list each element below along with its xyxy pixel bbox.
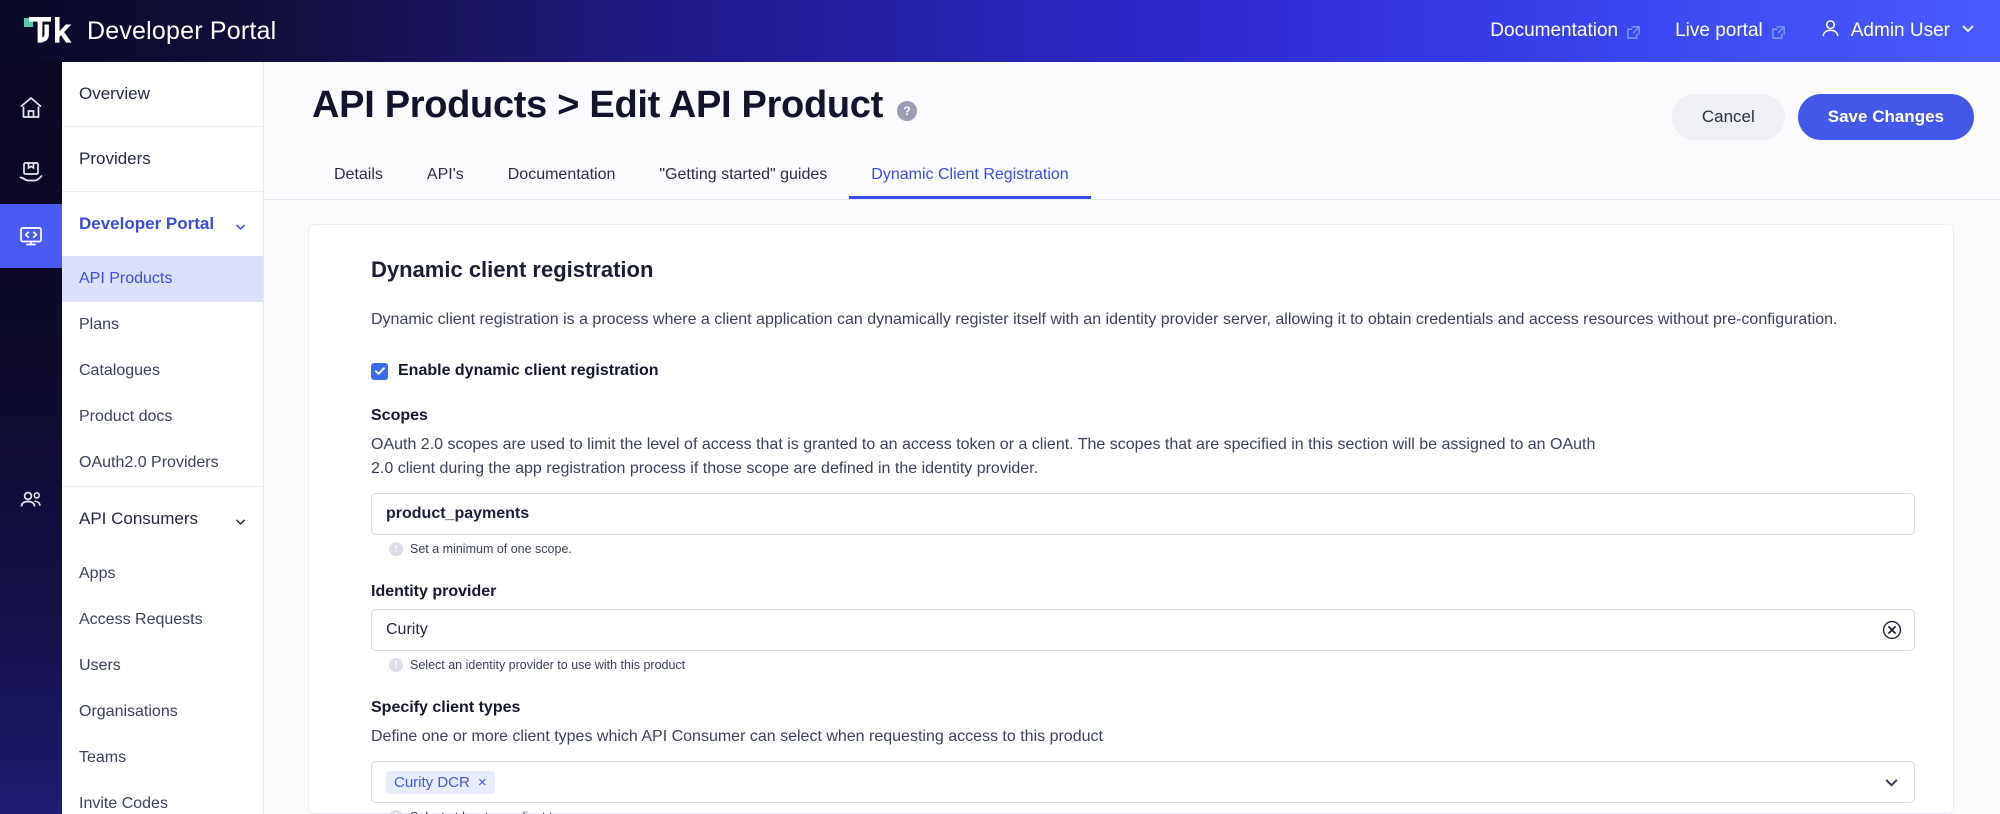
rail-home-icon[interactable] xyxy=(0,76,62,140)
identity-provider-hint: ! Select an identity provider to use wit… xyxy=(371,658,1915,672)
sidebar-item-developer-portal[interactable]: Developer Portal xyxy=(62,192,263,256)
rail-api-consumers-icon[interactable] xyxy=(0,468,62,532)
sidebar-item-label: API Consumers xyxy=(79,509,198,529)
body: Overview Providers Developer Portal API … xyxy=(0,62,2000,814)
sidebar-item-label: Access Requests xyxy=(79,611,203,629)
tab-apis[interactable]: API's xyxy=(405,158,486,199)
enable-dcr-checkbox-row[interactable]: Enable dynamic client registration xyxy=(371,362,1915,380)
sidebar-group-developer-portal: Developer Portal API Products Plans Cata… xyxy=(62,192,263,487)
tyk-logo-icon xyxy=(22,14,74,48)
cancel-button[interactable]: Cancel xyxy=(1672,94,1785,140)
sidebar-item-oauth2-providers[interactable]: OAuth2.0 Providers xyxy=(62,440,263,486)
rail-spacer xyxy=(0,268,62,468)
sidebar-item-users[interactable]: Users xyxy=(62,643,263,689)
sidebar-item-label: Providers xyxy=(79,149,151,169)
sidebar-item-label: Developer Portal xyxy=(79,214,214,234)
scopes-field: Scopes OAuth 2.0 scopes are used to limi… xyxy=(371,407,1915,556)
external-link-icon xyxy=(1771,24,1786,39)
sidebar-item-providers[interactable]: Providers xyxy=(62,127,263,191)
clear-circle-x-icon[interactable] xyxy=(1882,620,1902,640)
identity-provider-value: Curity xyxy=(386,621,428,639)
info-icon: ! xyxy=(389,658,403,672)
section-description: Dynamic client registration is a process… xyxy=(371,308,1915,332)
client-type-chip: Curity DCR × xyxy=(386,771,495,794)
enable-dcr-label: Enable dynamic client registration xyxy=(398,362,659,380)
sidebar-item-organisations[interactable]: Organisations xyxy=(62,689,263,735)
external-link-icon xyxy=(1626,24,1641,39)
sidebar-item-catalogues[interactable]: Catalogues xyxy=(62,348,263,394)
sidebar-item-plans[interactable]: Plans xyxy=(62,302,263,348)
top-bar: Developer Portal Documentation Live port… xyxy=(0,0,2000,62)
sidebar-item-overview[interactable]: Overview xyxy=(62,62,263,126)
sidebar-item-label: Overview xyxy=(79,84,150,104)
sidebar-nav: Overview Providers Developer Portal API … xyxy=(62,62,264,814)
sidebar-group-api-consumers: API Consumers Apps Access Requests Users… xyxy=(62,487,263,814)
sidebar-item-label: OAuth2.0 Providers xyxy=(79,454,219,472)
dcr-card: Dynamic client registration Dynamic clie… xyxy=(308,224,1954,814)
documentation-label: Documentation xyxy=(1490,20,1618,42)
client-types-description: Define one or more client types which AP… xyxy=(371,725,1621,749)
sidebar-item-api-consumers[interactable]: API Consumers xyxy=(62,487,263,551)
breadcrumb: API Products > Edit API Product ? xyxy=(312,84,917,127)
rail-providers-icon[interactable] xyxy=(0,140,62,204)
client-types-select[interactable]: Curity DCR × xyxy=(371,761,1915,803)
main-content: API Products > Edit API Product ? Cancel… xyxy=(264,62,2000,814)
help-icon[interactable]: ? xyxy=(897,101,917,121)
tab-documentation[interactable]: Documentation xyxy=(486,158,638,199)
app-root: Developer Portal Documentation Live port… xyxy=(0,0,2000,814)
brand[interactable]: Developer Portal xyxy=(22,14,276,48)
sidebar-item-label: Organisations xyxy=(79,703,178,721)
sidebar-item-label: Product docs xyxy=(79,408,172,426)
scopes-hint-text: Set a minimum of one scope. xyxy=(410,542,572,556)
client-types-hint-text: Select at least one client type xyxy=(410,810,573,814)
checkbox-checked-icon[interactable] xyxy=(371,363,388,380)
sidebar-item-teams[interactable]: Teams xyxy=(62,735,263,781)
user-avatar-icon xyxy=(1820,18,1841,45)
identity-provider-input[interactable]: Curity xyxy=(371,609,1915,651)
brand-title: Developer Portal xyxy=(87,17,276,46)
chevron-down-icon xyxy=(234,513,247,526)
page-header: API Products > Edit API Product ? Cancel… xyxy=(264,62,2000,140)
client-types-label: Specify client types xyxy=(371,699,1915,717)
identity-provider-field: Identity provider Curity ! Select an ide… xyxy=(371,583,1915,672)
identity-provider-hint-text: Select an identity provider to use with … xyxy=(410,658,685,672)
sidebar-item-label: Users xyxy=(79,657,121,675)
sidebar-item-label: Invite Codes xyxy=(79,795,168,813)
tab-dynamic-client-registration[interactable]: Dynamic Client Registration xyxy=(849,158,1090,199)
client-types-field: Specify client types Define one or more … xyxy=(371,699,1915,814)
client-types-hint: ! Select at least one client type xyxy=(371,810,1915,814)
page-actions: Cancel Save Changes xyxy=(1672,84,1974,140)
sidebar-item-label: API Products xyxy=(79,270,172,288)
top-bar-right: Documentation Live portal Admin User xyxy=(1490,18,1976,45)
rail-developer-portal-icon[interactable] xyxy=(0,204,62,268)
chevron-down-icon[interactable] xyxy=(1883,774,1900,791)
user-menu[interactable]: Admin User xyxy=(1820,18,1976,45)
chevron-down-icon xyxy=(1960,20,1976,42)
scopes-description: OAuth 2.0 scopes are used to limit the l… xyxy=(371,433,1621,481)
sidebar-item-label: Plans xyxy=(79,316,119,334)
live-portal-label: Live portal xyxy=(1675,20,1763,42)
section-title: Dynamic client registration xyxy=(371,257,1915,283)
icon-rail xyxy=(0,62,62,814)
sidebar-item-api-products[interactable]: API Products xyxy=(62,256,263,302)
chevron-down-icon xyxy=(234,218,247,231)
sidebar-item-apps[interactable]: Apps xyxy=(62,551,263,597)
tab-bar: Details API's Documentation "Getting sta… xyxy=(264,158,2000,200)
sidebar-item-label: Catalogues xyxy=(79,362,160,380)
scopes-hint: ! Set a minimum of one scope. xyxy=(371,542,1915,556)
sidebar-item-product-docs[interactable]: Product docs xyxy=(62,394,263,440)
tab-getting-started-guides[interactable]: "Getting started" guides xyxy=(637,158,849,199)
sidebar-item-label: Apps xyxy=(79,565,115,583)
page-title: API Products > Edit API Product xyxy=(312,84,883,127)
client-type-chip-label: Curity DCR xyxy=(394,774,470,791)
info-icon: ! xyxy=(389,810,403,814)
save-changes-button[interactable]: Save Changes xyxy=(1798,94,1974,140)
sidebar-group-overview: Overview xyxy=(62,62,263,127)
documentation-link[interactable]: Documentation xyxy=(1490,20,1641,42)
sidebar-item-label: Teams xyxy=(79,749,126,767)
chip-remove-icon[interactable]: × xyxy=(478,774,487,791)
sidebar-item-access-requests[interactable]: Access Requests xyxy=(62,597,263,643)
user-name: Admin User xyxy=(1851,20,1950,42)
content-area: Dynamic client registration Dynamic clie… xyxy=(264,200,2000,814)
identity-provider-label: Identity provider xyxy=(371,583,1915,601)
info-icon: ! xyxy=(389,542,403,556)
scopes-label: Scopes xyxy=(371,407,1915,425)
live-portal-link[interactable]: Live portal xyxy=(1675,20,1786,42)
sidebar-group-providers: Providers xyxy=(62,127,263,192)
sidebar-item-invite-codes[interactable]: Invite Codes xyxy=(62,781,263,814)
scopes-input[interactable]: product_payments xyxy=(371,493,1915,535)
tab-details[interactable]: Details xyxy=(312,158,405,199)
